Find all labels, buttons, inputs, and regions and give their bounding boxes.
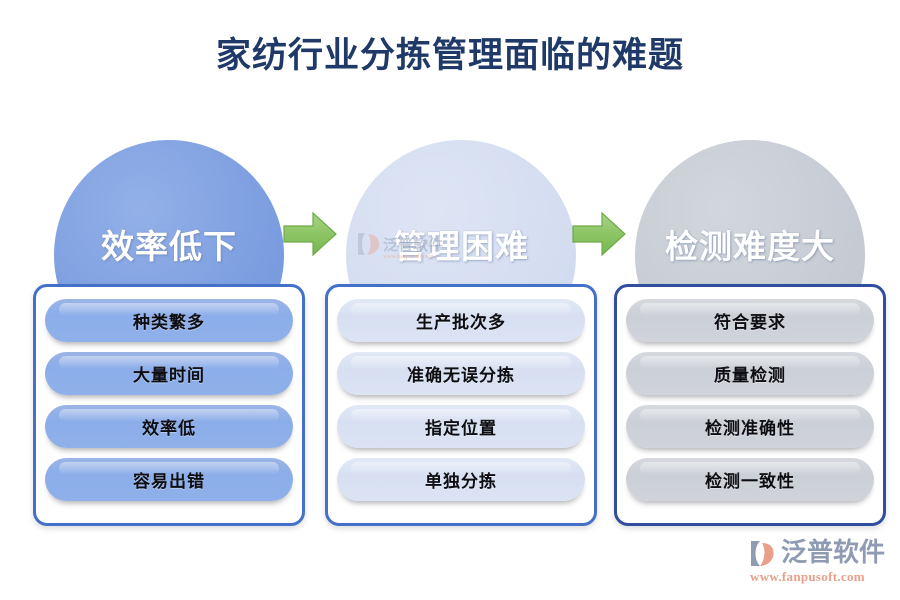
- list-item[interactable]: 准确无误分拣: [337, 352, 585, 395]
- list-item-label: 种类繁多: [133, 308, 205, 333]
- list-item[interactable]: 生产批次多: [337, 299, 585, 342]
- list-item[interactable]: 种类繁多: [45, 299, 293, 342]
- flow-column-management: 管理困难 生产批次多 准确无误分拣 指定位置 单独分拣: [325, 140, 597, 530]
- list-item-label: 准确无误分拣: [407, 361, 515, 386]
- list-item-label: 检测一致性: [705, 467, 795, 492]
- list-item-label: 单独分拣: [425, 467, 497, 492]
- stage-circle-label: 检测难度大: [665, 227, 835, 267]
- list-item-label: 生产批次多: [416, 308, 506, 333]
- list-item[interactable]: 效率低: [45, 405, 293, 448]
- stage-panel-inspection: 符合要求 质量检测 检测准确性 检测一致性: [614, 284, 886, 526]
- list-item[interactable]: 符合要求: [626, 299, 874, 342]
- list-item-label: 指定位置: [425, 414, 497, 439]
- list-item[interactable]: 容易出错: [45, 458, 293, 501]
- flow-columns: 效率低下 种类繁多 大量时间 效率低 容易出错: [0, 0, 900, 600]
- stage-circle-label: 效率低下: [101, 227, 237, 267]
- brand-logo: 泛普软件 www.fanpusoft.com: [748, 534, 886, 588]
- right-arrow-icon: [571, 209, 627, 259]
- stage-item-list: 符合要求 质量检测 检测准确性 检测一致性: [617, 299, 883, 501]
- stage-item-list: 种类繁多 大量时间 效率低 容易出错: [36, 299, 302, 501]
- list-item-label: 大量时间: [133, 361, 205, 386]
- stage-panel-efficiency: 种类繁多 大量时间 效率低 容易出错: [33, 284, 305, 526]
- list-item-label: 容易出错: [133, 467, 205, 492]
- brand-logo-row: 泛普软件: [748, 538, 885, 568]
- list-item[interactable]: 指定位置: [337, 405, 585, 448]
- list-item-label: 符合要求: [714, 308, 786, 333]
- slide-canvas: 家纺行业分拣管理面临的难题 效率低下 种类繁多 大量时间 效率低: [0, 0, 900, 600]
- list-item-label: 质量检测: [714, 361, 786, 386]
- stage-panel-management: 生产批次多 准确无误分拣 指定位置 单独分拣: [325, 284, 597, 526]
- list-item[interactable]: 检测一致性: [626, 458, 874, 501]
- list-item[interactable]: 单独分拣: [337, 458, 585, 501]
- brand-url: www.fanpusoft.com: [750, 569, 865, 585]
- flow-column-efficiency: 效率低下 种类繁多 大量时间 效率低 容易出错: [33, 140, 305, 530]
- stage-item-list: 生产批次多 准确无误分拣 指定位置 单独分拣: [328, 299, 594, 501]
- list-item[interactable]: 大量时间: [45, 352, 293, 395]
- list-item-label: 效率低: [142, 414, 196, 439]
- fanpu-logo-icon: [748, 538, 778, 568]
- list-item[interactable]: 质量检测: [626, 352, 874, 395]
- list-item-label: 检测准确性: [705, 414, 795, 439]
- brand-name: 泛普软件: [781, 538, 885, 568]
- flow-column-inspection: 检测难度大 符合要求 质量检测 检测准确性 检测一致性: [614, 140, 886, 530]
- list-item[interactable]: 检测准确性: [626, 405, 874, 448]
- stage-circle-label: 管理困难: [393, 227, 529, 267]
- right-arrow-icon: [282, 209, 338, 259]
